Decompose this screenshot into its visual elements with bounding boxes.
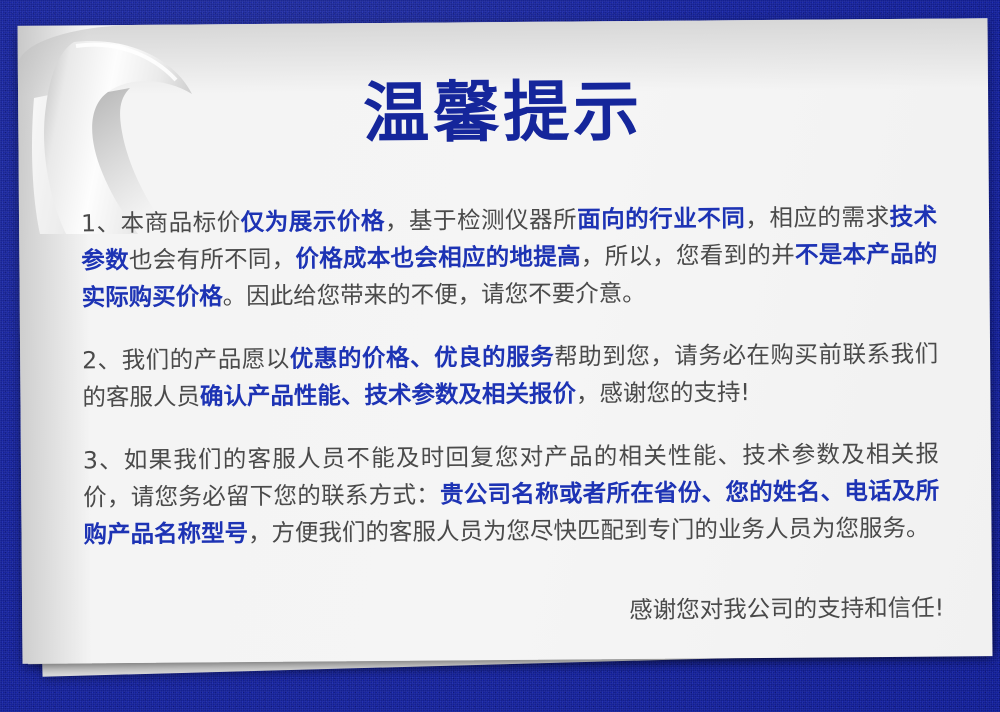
notice-paragraph: 2、我们的产品愿以优惠的价格、优良的服务帮助到您，请务必在购买前联系我们的客服人…: [82, 336, 939, 417]
notice-paragraph: 1、本商品标价仅为展示价格，基于检测仪器所面向的行业不同，相应的需求技术参数也会…: [81, 199, 938, 317]
text-run: ，所以，您看到的并: [581, 241, 795, 271]
text-run: 我们的产品愿以: [122, 345, 290, 374]
paragraph-number: 1、: [81, 209, 121, 237]
page-title: 温馨提示: [18, 76, 988, 150]
text-run: 也会有所不同，: [129, 245, 296, 274]
poster-content: 温馨提示 1、本商品标价仅为展示价格，基于检测仪器所面向的行业不同，相应的需求技…: [18, 18, 993, 664]
paragraph-number: 2、: [82, 346, 122, 374]
text-run: ，方便我们的客服人员为您尽快匹配到专门的业务人员为您服务。: [248, 514, 930, 547]
highlighted-text-run: 优惠的价格、优良的服务: [290, 343, 555, 373]
highlighted-text-run: 面向的行业不同: [577, 204, 745, 233]
text-run: 本商品标价: [120, 208, 240, 237]
highlighted-text-run: 价格成本也会相应的地提高: [295, 242, 581, 272]
text-run: ，相应的需求: [745, 203, 889, 232]
closing-line: 感谢您对我公司的支持和信任!: [84, 591, 944, 632]
highlighted-text-run: 确认产品性能、技术参数及相关报价: [200, 379, 576, 410]
notice-poster: 温馨提示 1、本商品标价仅为展示价格，基于检测仪器所面向的行业不同，相应的需求技…: [0, 0, 1000, 712]
text-run: ，感谢您的支持!: [576, 378, 750, 407]
paragraph-number: 3、: [83, 446, 124, 474]
text-run: ，基于检测仪器所: [385, 205, 577, 235]
notice-paragraph: 3、如果我们的客服人员不能及时回复您对产品的相关性能、技术参数及相关报价，请您务…: [83, 436, 940, 554]
highlighted-text-run: 仅为展示价格: [241, 207, 385, 236]
notice-body: 1、本商品标价仅为展示价格，基于检测仪器所面向的行业不同，相应的需求技术参数也会…: [81, 199, 940, 554]
text-run: 。因此给您带来的不便，请您不要介意。: [223, 279, 646, 310]
